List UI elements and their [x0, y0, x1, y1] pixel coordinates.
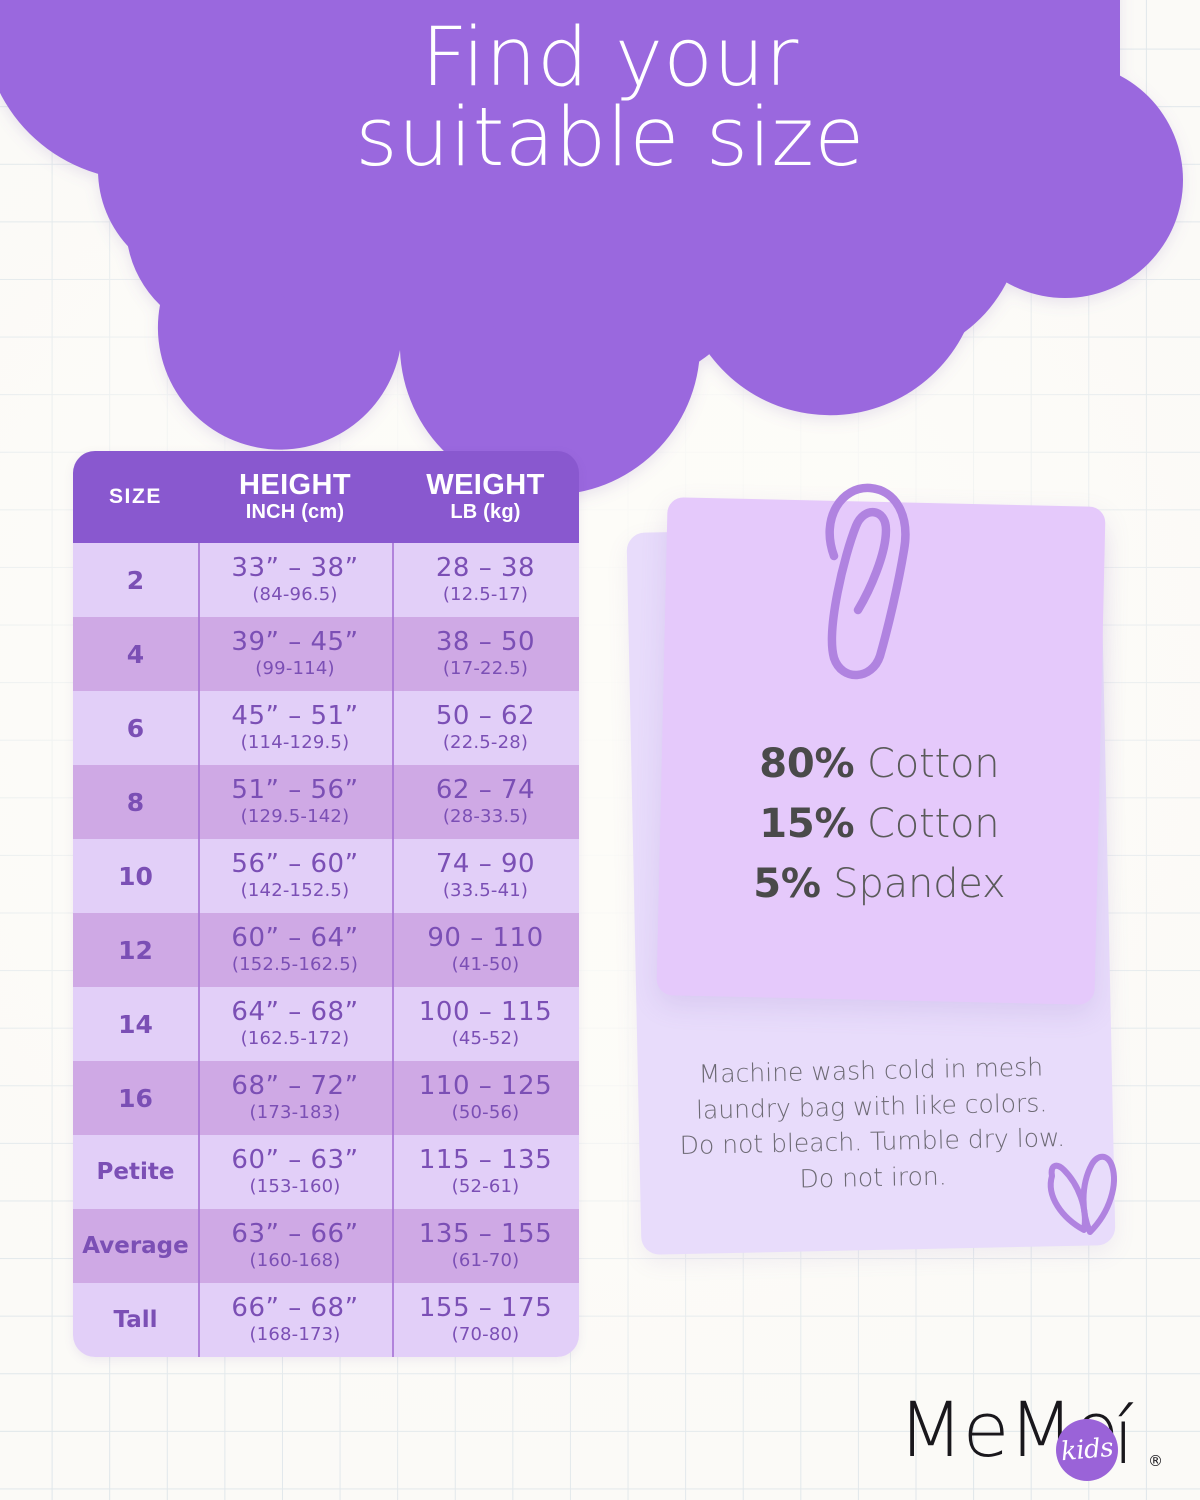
row-size-label: 2 — [127, 566, 144, 595]
row-height-cell: 56” – 60”(142-152.5) — [198, 839, 392, 913]
table-row: 1056” – 60”(142-152.5)74 – 90(33.5-41) — [73, 839, 579, 913]
fabric-percent: 15% — [759, 801, 854, 847]
row-size-cell: Petite — [73, 1135, 198, 1209]
row-height-inches: 60” – 64” — [231, 925, 358, 952]
heart-doodle-icon — [1042, 1148, 1147, 1248]
row-weight-cell: 110 – 125(50-56) — [392, 1061, 579, 1135]
row-height-cm: (152.5-162.5) — [232, 954, 358, 975]
row-height-inches: 60” – 63” — [231, 1147, 358, 1174]
row-height-cell: 60” – 63”(153-160) — [198, 1135, 392, 1209]
table-row: 1668” – 72”(173-183)110 – 125(50-56) — [73, 1061, 579, 1135]
row-weight-lb: 62 – 74 — [436, 777, 535, 804]
row-weight-cell: 115 – 135(52-61) — [392, 1135, 579, 1209]
row-height-cell: 51” – 56”(129.5-142) — [198, 765, 392, 839]
fabric-material: Cotton — [854, 741, 999, 787]
fabric-line: 80% Cotton — [660, 734, 1098, 794]
row-size-cell: 12 — [73, 913, 198, 987]
row-height-cell: 39” – 45”(99-114) — [198, 617, 392, 691]
row-weight-cell: 100 – 115(45-52) — [392, 987, 579, 1061]
row-weight-lb: 74 – 90 — [436, 851, 535, 878]
row-height-cm: (153-160) — [249, 1176, 340, 1197]
row-weight-cell: 74 – 90(33.5-41) — [392, 839, 579, 913]
paperclip-icon — [800, 478, 930, 688]
row-weight-lb: 115 – 135 — [419, 1147, 552, 1174]
row-height-inches: 33” – 38” — [231, 555, 358, 582]
row-size-label: 16 — [118, 1084, 153, 1113]
table-header-row: SIZE HEIGHT INCH (cm) WEIGHT LB (kg) — [73, 451, 579, 543]
logo-kids-badge: kids — [1056, 1419, 1118, 1481]
row-size-label: Petite — [97, 1159, 175, 1185]
column-header-size-label: SIZE — [109, 486, 162, 508]
row-weight-kg: (28-33.5) — [443, 806, 528, 827]
size-chart-table: SIZE HEIGHT INCH (cm) WEIGHT LB (kg) 233… — [73, 451, 579, 1357]
row-weight-kg: (45-52) — [452, 1028, 520, 1049]
logo-accented-i: í — [1113, 1399, 1134, 1475]
row-size-label: Tall — [113, 1307, 157, 1333]
fabric-percent: 80% — [759, 741, 854, 787]
row-size-cell: 6 — [73, 691, 198, 765]
column-header-height-unit: INCH (cm) — [246, 501, 344, 524]
row-height-cm: (173-183) — [249, 1102, 340, 1123]
row-weight-lb: 38 – 50 — [436, 629, 535, 656]
row-size-cell: Tall — [73, 1283, 198, 1357]
fabric-material: Cotton — [854, 801, 999, 847]
row-weight-lb: 110 – 125 — [419, 1073, 552, 1100]
row-weight-cell: 135 – 155(61-70) — [392, 1209, 579, 1283]
column-header-weight-label: WEIGHT — [426, 470, 544, 500]
row-size-cell: 16 — [73, 1061, 198, 1135]
fabric-material: Spandex — [821, 861, 1006, 907]
row-height-inches: 63” – 66” — [231, 1221, 358, 1248]
row-height-inches: 39” – 45” — [231, 629, 358, 656]
fabric-composition-list: 80% Cotton15% Cotton5% Spandex — [660, 734, 1098, 914]
row-weight-cell: 155 – 175(70-80) — [392, 1283, 579, 1357]
table-row: 645” – 51”(114-129.5)50 – 62(22.5-28) — [73, 691, 579, 765]
table-row: Average63” – 66”(160-168)135 – 155(61-70… — [73, 1209, 579, 1283]
row-weight-kg: (17-22.5) — [443, 658, 528, 679]
table-row: 851” – 56”(129.5-142)62 – 74(28-33.5) — [73, 765, 579, 839]
row-height-inches: 45” – 51” — [231, 703, 358, 730]
row-weight-cell: 38 – 50(17-22.5) — [392, 617, 579, 691]
row-height-cm: (160-168) — [249, 1250, 340, 1271]
row-height-cm: (129.5-142) — [241, 806, 350, 827]
row-height-cell: 63” – 66”(160-168) — [198, 1209, 392, 1283]
row-weight-cell: 50 – 62(22.5-28) — [392, 691, 579, 765]
table-body: 233” – 38”(84-96.5)28 – 38(12.5-17)439” … — [73, 543, 579, 1357]
row-height-inches: 51” – 56” — [231, 777, 358, 804]
column-header-weight-unit: LB (kg) — [450, 501, 520, 524]
row-size-label: 10 — [118, 862, 153, 891]
table-row: 1260” – 64”(152.5-162.5)90 – 110(41-50) — [73, 913, 579, 987]
row-size-cell: 2 — [73, 543, 198, 617]
row-size-cell: 14 — [73, 987, 198, 1061]
row-height-cm: (168-173) — [249, 1324, 340, 1345]
column-header-height-label: HEIGHT — [239, 470, 351, 500]
table-row: 233” – 38”(84-96.5)28 – 38(12.5-17) — [73, 543, 579, 617]
row-weight-lb: 90 – 110 — [427, 925, 543, 952]
row-height-cell: 45” – 51”(114-129.5) — [198, 691, 392, 765]
row-weight-kg: (12.5-17) — [443, 584, 528, 605]
row-height-cm: (99-114) — [255, 658, 334, 679]
row-height-cm: (142-152.5) — [241, 880, 350, 901]
row-height-cm: (84-96.5) — [252, 584, 337, 605]
row-weight-kg: (50-56) — [452, 1102, 520, 1123]
row-size-label: 6 — [127, 714, 144, 743]
table-row: Petite60” – 63”(153-160)115 – 135(52-61) — [73, 1135, 579, 1209]
row-weight-kg: (22.5-28) — [443, 732, 528, 753]
row-weight-lb: 50 – 62 — [436, 703, 535, 730]
row-height-cell: 68” – 72”(173-183) — [198, 1061, 392, 1135]
fabric-line: 15% Cotton — [660, 794, 1098, 854]
row-height-inches: 68” – 72” — [231, 1073, 358, 1100]
row-size-label: 8 — [127, 788, 144, 817]
column-header-size: SIZE — [73, 451, 198, 543]
row-weight-lb: 28 – 38 — [436, 555, 535, 582]
fabric-line: 5% Spandex — [660, 854, 1098, 914]
row-height-cell: 64” – 68”(162.5-172) — [198, 987, 392, 1061]
brand-logo: MeMo kids í ® — [898, 1392, 1168, 1484]
row-weight-lb: 100 – 115 — [419, 999, 552, 1026]
care-instructions-text: Machine wash cold in mesh laundry bag wi… — [651, 1048, 1094, 1199]
registered-trademark-symbol: ® — [1148, 1452, 1163, 1470]
row-weight-lb: 135 – 155 — [419, 1221, 552, 1248]
row-size-label: 12 — [118, 936, 153, 965]
row-weight-cell: 28 – 38(12.5-17) — [392, 543, 579, 617]
row-weight-kg: (41-50) — [452, 954, 520, 975]
row-height-inches: 66” – 68” — [231, 1295, 358, 1322]
row-weight-kg: (33.5-41) — [443, 880, 528, 901]
row-height-cell: 33” – 38”(84-96.5) — [198, 543, 392, 617]
row-size-label: 14 — [118, 1010, 153, 1039]
page-title: Find your suitable size — [150, 18, 1070, 178]
cloud-header-banner: Find your suitable size — [0, 0, 1200, 400]
row-height-cm: (114-129.5) — [241, 732, 350, 753]
row-weight-lb: 155 – 175 — [419, 1295, 552, 1322]
row-weight-kg: (61-70) — [452, 1250, 520, 1271]
row-weight-cell: 90 – 110(41-50) — [392, 913, 579, 987]
row-height-cm: (162.5-172) — [241, 1028, 350, 1049]
row-size-cell: Average — [73, 1209, 198, 1283]
row-size-cell: 8 — [73, 765, 198, 839]
row-weight-kg: (70-80) — [452, 1324, 520, 1345]
column-header-weight: WEIGHT LB (kg) — [392, 451, 579, 543]
row-size-cell: 10 — [73, 839, 198, 913]
row-height-cell: 66” – 68”(168-173) — [198, 1283, 392, 1357]
row-size-label: Average — [82, 1233, 189, 1259]
row-weight-kg: (52-61) — [452, 1176, 520, 1197]
fabric-percent: 5% — [753, 861, 821, 907]
row-height-inches: 64” – 68” — [231, 999, 358, 1026]
row-size-label: 4 — [127, 640, 144, 669]
table-row: Tall66” – 68”(168-173)155 – 175(70-80) — [73, 1283, 579, 1357]
row-height-inches: 56” – 60” — [231, 851, 358, 878]
logo-kids-label: kids — [1060, 1433, 1114, 1467]
table-row: 1464” – 68”(162.5-172)100 – 115(45-52) — [73, 987, 579, 1061]
row-size-cell: 4 — [73, 617, 198, 691]
row-height-cell: 60” – 64”(152.5-162.5) — [198, 913, 392, 987]
column-header-height: HEIGHT INCH (cm) — [198, 451, 392, 543]
table-row: 439” – 45”(99-114)38 – 50(17-22.5) — [73, 617, 579, 691]
row-weight-cell: 62 – 74(28-33.5) — [392, 765, 579, 839]
